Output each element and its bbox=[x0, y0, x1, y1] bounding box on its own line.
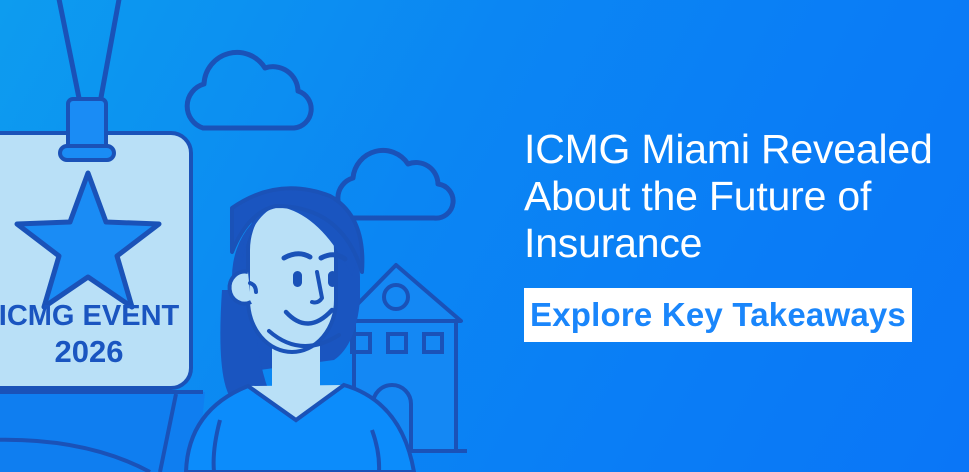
page-title: ICMG Miami Revealed About the Future of … bbox=[524, 126, 944, 267]
badge-title: ICMG EVENT bbox=[0, 300, 180, 332]
desk-surface bbox=[0, 392, 215, 472]
ear bbox=[230, 272, 251, 304]
cloud-large-icon bbox=[187, 52, 311, 128]
badge-clip-icon bbox=[60, 99, 114, 160]
eye-left bbox=[293, 271, 302, 287]
lanyard-straps bbox=[58, 0, 120, 103]
cta-container: Explore Key Takeaways bbox=[524, 288, 944, 342]
cloud-small-icon bbox=[338, 150, 453, 218]
promo-banner: ICMG EVENT 2026 bbox=[0, 0, 969, 472]
lanyard-strap-left-icon bbox=[58, 0, 80, 103]
badge-year: 2026 bbox=[55, 334, 124, 369]
lanyard-strap-right-icon bbox=[100, 0, 120, 103]
eye-right bbox=[328, 271, 337, 287]
explore-key-takeaways-button[interactable]: Explore Key Takeaways bbox=[524, 288, 912, 342]
banner-text-column: ICMG Miami Revealed About the Future of … bbox=[524, 126, 944, 342]
